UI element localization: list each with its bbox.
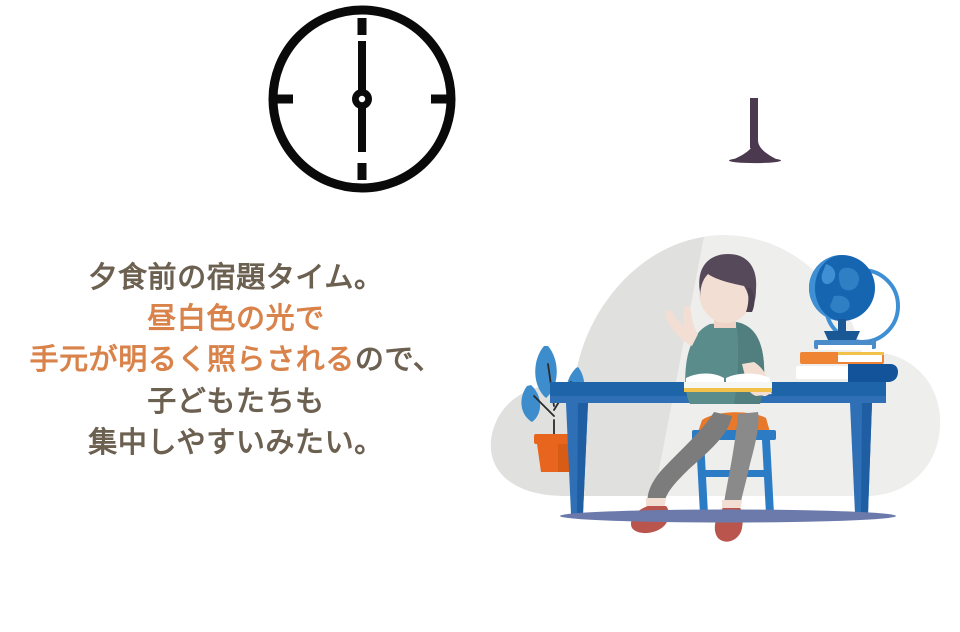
caption-line-5: 集中しやすいみたい。 xyxy=(0,423,472,464)
lamp-shade-rim xyxy=(729,158,781,163)
book-gold-edge xyxy=(684,388,772,392)
wall-clock xyxy=(262,4,462,194)
book-stack-top-page xyxy=(818,345,872,350)
caption-seg-highlight: 昼白色の光で xyxy=(147,303,324,335)
lamp-group xyxy=(729,98,781,163)
caption-line-1: 夕食前の宿題タイム。 xyxy=(0,258,472,299)
caption-text: 夕食前の宿題タイム。 昼白色の光で 手元が明るく照らされるので、 子どもたちも … xyxy=(0,258,472,464)
clock-tick-12 xyxy=(358,18,367,35)
clock-center-hole xyxy=(359,96,365,102)
caption-line-2: 昼白色の光で xyxy=(0,299,472,340)
globe-base xyxy=(824,331,860,340)
caption-seg: 集中しやすいみたい。 xyxy=(88,427,384,459)
caption-line-4: 子どもたちも xyxy=(0,382,472,423)
caption-seg: 夕食前の宿題タイム。 xyxy=(88,262,383,294)
lamp-shade-icon xyxy=(732,140,778,160)
clock-tick-6 xyxy=(358,163,367,180)
clock-tick-3 xyxy=(431,95,448,104)
floor-shadow xyxy=(560,510,896,523)
book-stack-orange-page xyxy=(838,354,882,362)
book-spread xyxy=(684,382,772,389)
caption-seg: 子どもたちも xyxy=(147,386,324,418)
globe-neck xyxy=(838,319,846,331)
book-stack-bottom-dark xyxy=(848,364,898,382)
child-studying-illustration xyxy=(470,196,960,568)
clock-tick-9 xyxy=(276,95,293,104)
caption-seg: ので、 xyxy=(355,344,443,376)
book-stack-gold-edge xyxy=(838,352,884,355)
caption-line-3: 手元が明るく照らされるので、 xyxy=(0,340,472,381)
illustration-canvas: 夕食前の宿題タイム。 昼白色の光で 手元が明るく照らされるので、 子どもたちも … xyxy=(0,0,960,632)
pendant-lamp xyxy=(700,98,810,178)
caption-seg-highlight: 手元が明るく照らされる xyxy=(30,344,355,376)
clock-face-group xyxy=(273,10,451,188)
